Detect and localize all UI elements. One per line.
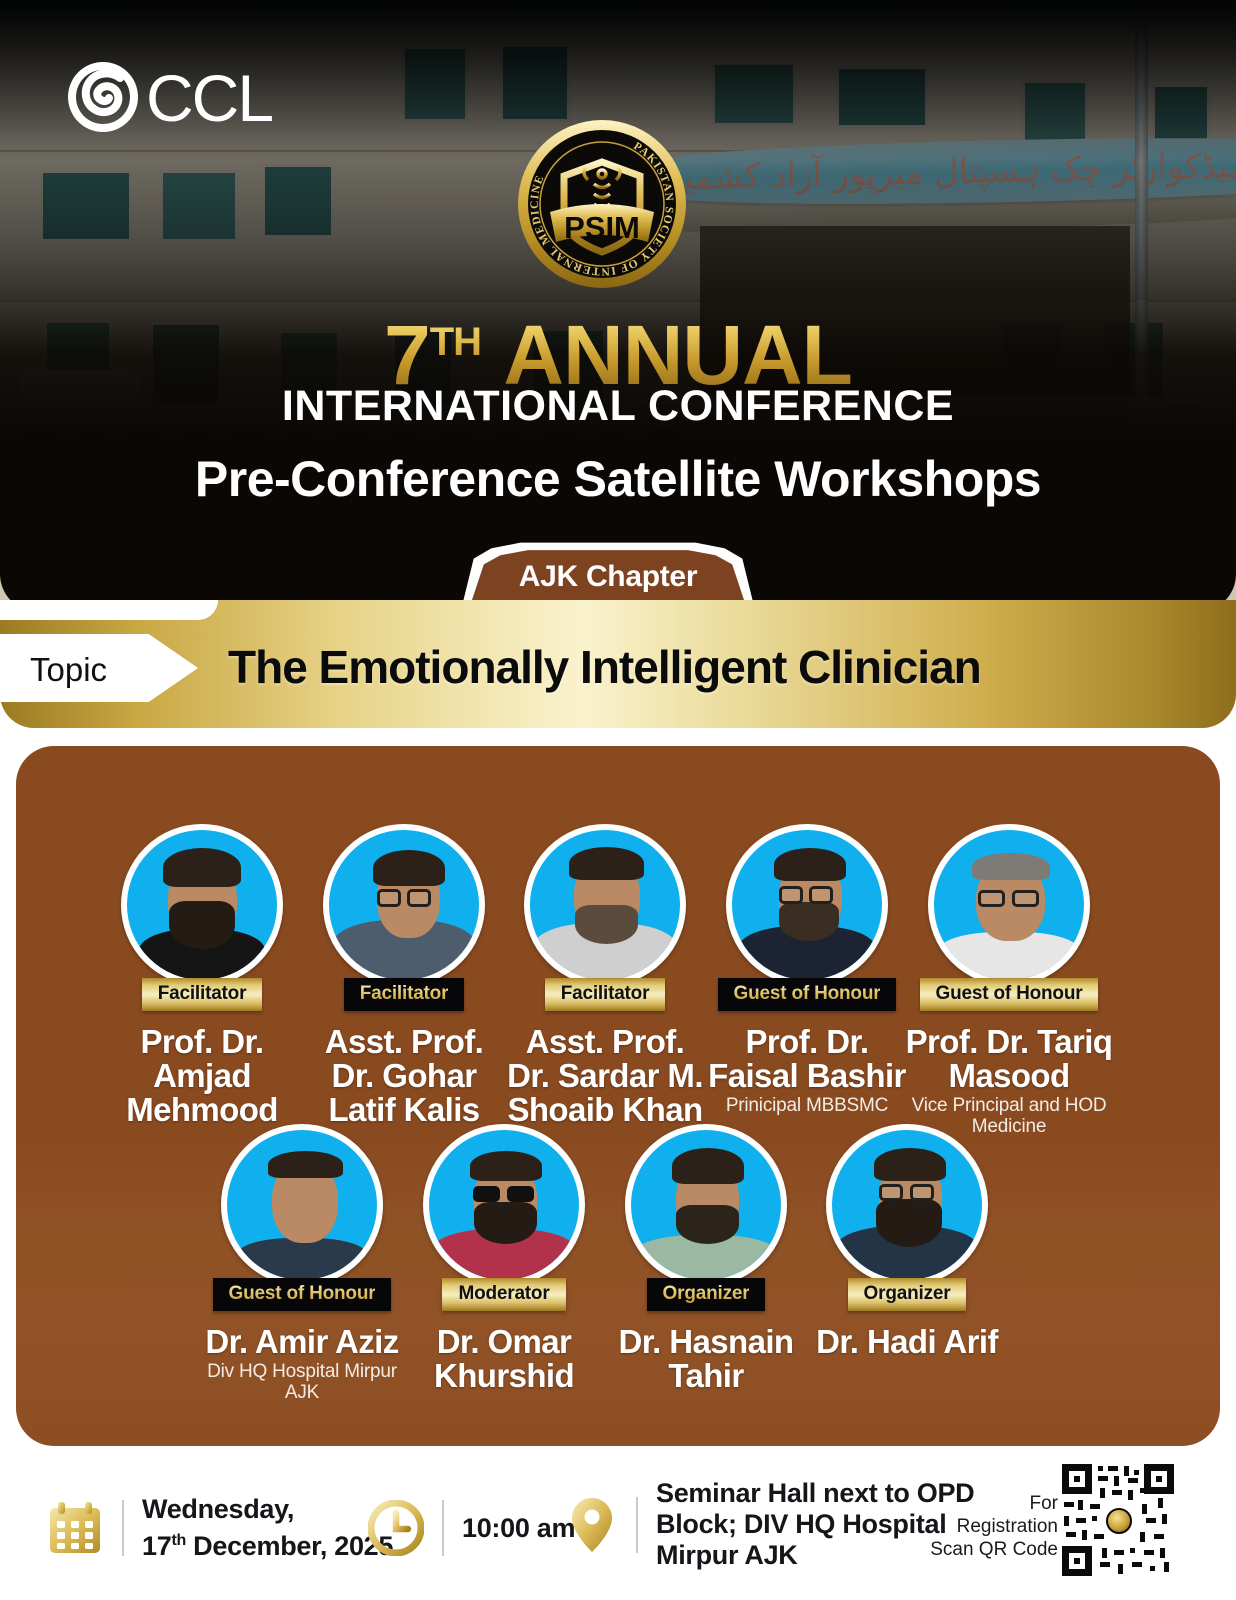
role-badge: Guest of Honour <box>213 1278 392 1311</box>
avatar <box>524 824 686 986</box>
ccl-wordmark: CCL <box>146 64 272 132</box>
role-badge: Guest of Honour <box>920 978 1099 1011</box>
speaker-name: Prof. Dr. Tariq Masood <box>905 1025 1113 1093</box>
ccl-logo: CCL <box>64 58 334 138</box>
avatar <box>625 1124 787 1286</box>
speaker-name: Dr. Omar Khurshid <box>400 1325 608 1393</box>
speaker-subtitle: Prinicipal MBBSMC <box>703 1095 911 1116</box>
date-block: Wednesday, 17th December, 2025 <box>46 1494 393 1562</box>
role-badge: Organizer <box>848 1278 967 1311</box>
location-pin-icon <box>566 1494 618 1556</box>
speaker-card: Organizer Dr. Hasnain Tahir <box>602 1124 810 1395</box>
role-badge: Facilitator <box>142 978 263 1011</box>
avatar <box>928 824 1090 986</box>
speaker-card: Guest of Honour Dr. Amir Aziz Div HQ Hos… <box>198 1124 406 1403</box>
speaker-card: Organizer Dr. Hadi Arif <box>803 1124 1011 1361</box>
role-badge: Organizer <box>647 1278 766 1311</box>
date-month-year: December, 2025 <box>193 1531 393 1561</box>
qr-line-3: Scan QR Code <box>898 1538 1058 1561</box>
avatar <box>121 824 283 986</box>
avatar <box>423 1124 585 1286</box>
clock-icon <box>368 1500 424 1556</box>
qr-line-2: Registration <box>898 1515 1058 1538</box>
speaker-card: Moderator Dr. Omar Khurshid <box>400 1124 608 1395</box>
topic-label: Topic <box>30 651 107 689</box>
speaker-subtitle: Div HQ Hospital Mirpur AJK <box>198 1361 406 1403</box>
chapter-tab: AJK Chapter <box>462 542 754 606</box>
role-badge: Guest of Honour <box>718 978 897 1011</box>
workshops-subtitle: Pre-Conference Satellite Workshops <box>0 450 1236 508</box>
time-value: 10:00 am <box>462 1513 575 1544</box>
calendar-icon <box>46 1499 104 1557</box>
conference-poster: دویژنل ہیڈکوارٹر چک ہسپتال میرپور آزاد ک… <box>0 0 1236 1600</box>
date-day-suffix: th <box>171 1532 186 1549</box>
time-block: 10:00 am <box>368 1500 575 1556</box>
svg-text:PSIM: PSIM <box>564 210 640 245</box>
qr-code-icon[interactable] <box>1062 1464 1174 1576</box>
avatar <box>826 1124 988 1286</box>
ordinal-suffix: TH <box>430 320 481 364</box>
avatar <box>726 824 888 986</box>
speaker-card: Guest of Honour Prof. Dr. Faisal Bashir … <box>703 824 911 1116</box>
avatar <box>323 824 485 986</box>
speaker-name: Dr. Hasnain Tahir <box>602 1325 810 1393</box>
ccl-spiral-icon <box>64 58 142 136</box>
speaker-name: Asst. Prof. Dr. Gohar Latif Kalis <box>300 1025 508 1127</box>
role-badge: Facilitator <box>344 978 465 1011</box>
topic-bar-notch <box>0 600 218 620</box>
avatar <box>221 1124 383 1286</box>
date-weekday: Wednesday, <box>142 1494 393 1525</box>
topic-title: The Emotionally Intelligent Clinician <box>228 640 1208 694</box>
chapter-label: AJK Chapter <box>462 560 754 594</box>
speaker-card: Guest of Honour Prof. Dr. Tariq Masood V… <box>905 824 1113 1137</box>
speaker-name: Prof. Dr. Faisal Bashir <box>703 1025 911 1093</box>
speaker-card: Facilitator Asst. Prof. Dr. Sardar M. Sh… <box>501 824 709 1129</box>
speaker-name: Prof. Dr. Amjad Mehmood <box>98 1025 306 1127</box>
qr-center-emblem <box>1106 1508 1132 1534</box>
role-badge: Moderator <box>442 1278 565 1311</box>
speaker-name: Dr. Amir Aziz <box>198 1325 406 1359</box>
role-badge: Facilitator <box>545 978 666 1011</box>
footer-bar: Wednesday, 17th December, 2025 10:00 am <box>0 1456 1236 1600</box>
speaker-name: Dr. Hadi Arif <box>803 1325 1011 1359</box>
qr-line-1: For <box>898 1492 1058 1515</box>
speaker-name: Asst. Prof. Dr. Sardar M. Shoaib Khan <box>501 1025 709 1127</box>
date-day: 17 <box>142 1531 171 1561</box>
conference-title: INTERNATIONAL CONFERENCE <box>0 382 1236 431</box>
speaker-card: Facilitator Prof. Dr. Amjad Mehmood <box>98 824 306 1129</box>
speaker-card: Facilitator Asst. Prof. Dr. Gohar Latif … <box>300 824 508 1129</box>
qr-instruction: For Registration Scan QR Code <box>898 1492 1058 1561</box>
psim-emblem-icon: PAKISTAN SOCIETY OF INTERNAL MEDICINE PS… <box>516 118 688 290</box>
